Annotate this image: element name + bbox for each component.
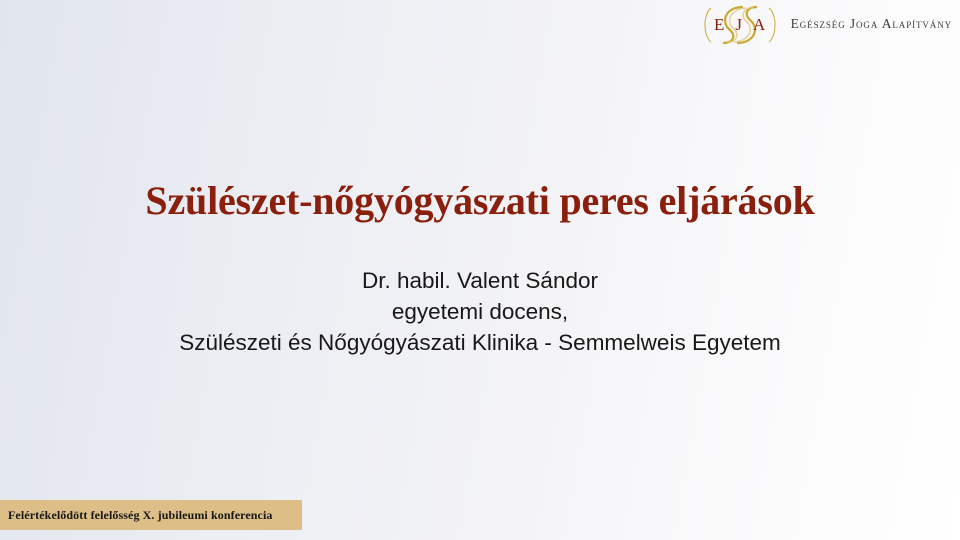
logo-letters: E J A bbox=[699, 4, 781, 46]
slide-title: Szülészet-nőgyógyászati peres eljárások bbox=[0, 179, 960, 223]
presenter-name: Dr. habil. Valent Sándor bbox=[0, 265, 960, 296]
presentation-slide: E J A Egészség Joga Alapítvány Szülészet… bbox=[0, 0, 960, 540]
eja-monogram-icon: E J A bbox=[699, 4, 781, 46]
presenter-role: egyetemi docens, bbox=[0, 296, 960, 327]
logo-letter-j: J bbox=[735, 16, 742, 33]
conference-banner: Felértékelődött felelősség X. jubileumi … bbox=[0, 500, 302, 530]
conference-banner-text: Felértékelődött felelősség X. jubileumi … bbox=[0, 508, 273, 523]
organization-logo: E J A Egészség Joga Alapítvány bbox=[699, 4, 952, 46]
presenter-block: Dr. habil. Valent Sándor egyetemi docens… bbox=[0, 265, 960, 358]
logo-letter-e: E bbox=[714, 16, 724, 33]
presenter-affiliation: Szülészeti és Nőgyógyászati Klinika - Se… bbox=[0, 327, 960, 358]
logo-letter-a: A bbox=[753, 16, 765, 33]
logo-wordmark: Egészség Joga Alapítvány bbox=[791, 16, 952, 34]
